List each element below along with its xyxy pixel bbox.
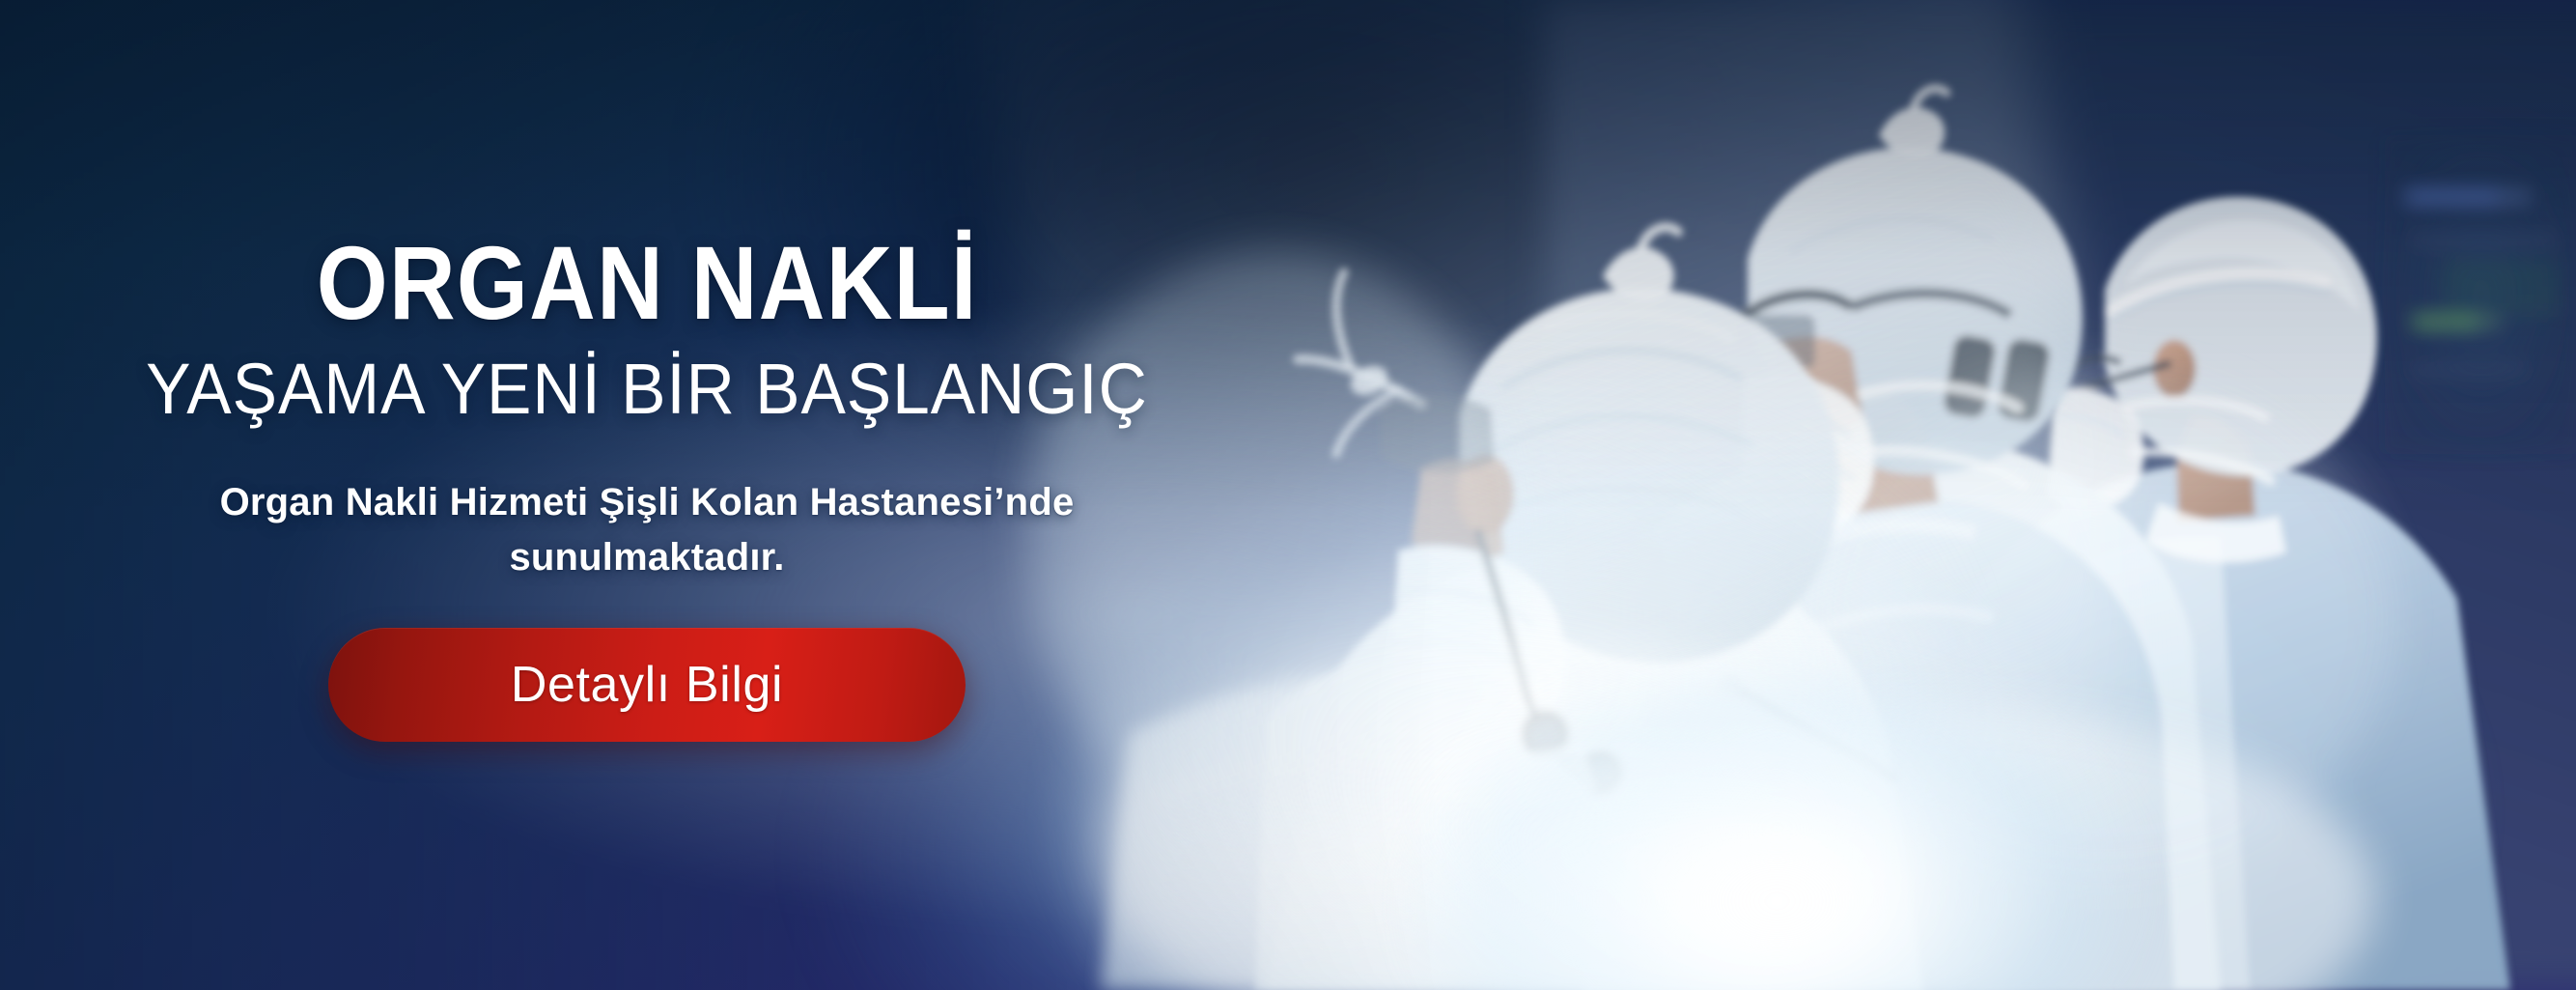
detayli-bilgi-button[interactable]: Detaylı Bilgi [328,628,966,742]
hero-description: Organ Nakli Hizmeti Şişli Kolan Hastanes… [220,475,1075,585]
hero-subtitle: YAŞAMA YENİ BİR BAŞLANGIÇ [146,353,1148,427]
page-title: ORGAN NAKLİ [316,231,977,335]
hero-description-line-2: sunulmaktadır. [509,536,784,579]
hero-content: ORGAN NAKLİ YAŞAMA YENİ BİR BAŞLANGIÇ Or… [0,0,1294,990]
hero-description-line-1: Organ Nakli Hizmeti Şişli Kolan Hastanes… [220,481,1075,523]
hero-banner: Ameliyathanede organ nakli yapan cerrah … [0,0,2576,990]
